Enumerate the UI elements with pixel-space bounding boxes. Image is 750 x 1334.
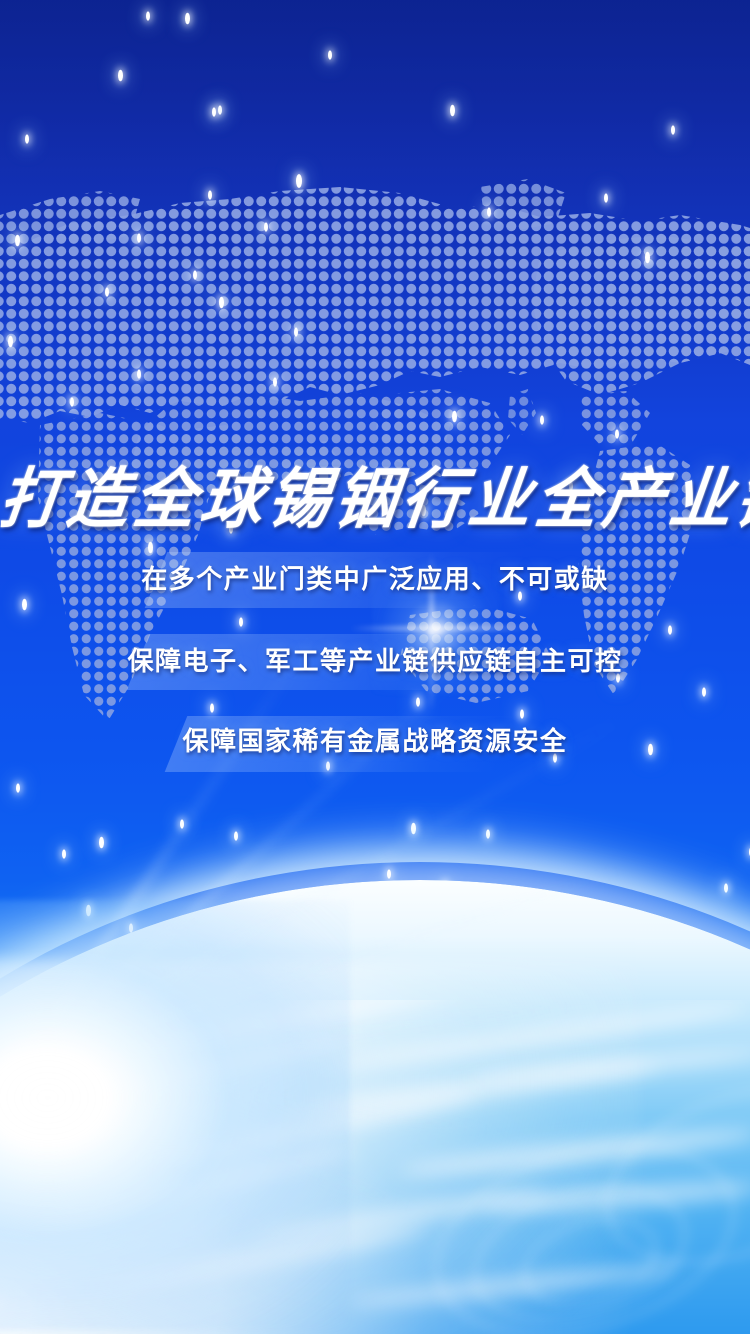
- subtitle-line-2: 保障电子、军工等产业链供应链自主可控: [0, 644, 750, 678]
- subtitle-line-3: 保障国家稀有金属战略资源安全: [0, 724, 750, 758]
- subtitle-line-1: 在多个产业门类中广泛应用、不可或缺: [0, 562, 750, 596]
- poster-canvas: 打造全球锡铟行业全产业链链主 在多个产业门类中广泛应用、不可或缺 保障电子、军工…: [0, 0, 750, 1334]
- page-title: 打造全球锡铟行业全产业链链主: [0, 457, 750, 540]
